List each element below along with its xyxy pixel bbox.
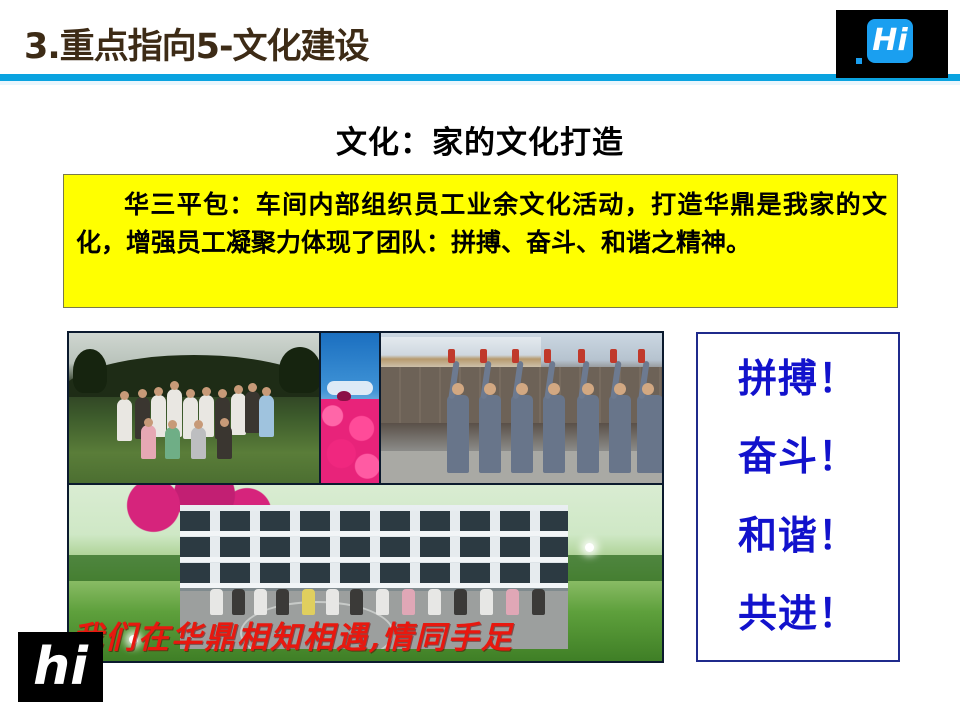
slogan-item-1: 拼搏！ (738, 360, 858, 399)
window-row-shape (180, 563, 568, 583)
slide-subtitle: 文化：家的文化打造 (0, 117, 960, 162)
slogan-item-4: 共进！ (738, 595, 858, 634)
header-accent-bar (0, 74, 960, 81)
photo-collage: 我们在华鼎相知相遇,情同手足 (67, 331, 664, 663)
brand-logo-bottom-left: hi (18, 632, 103, 702)
page-title: 3.重点指向5-文化建设 (24, 18, 369, 69)
brand-logo-top-right: Hi (836, 10, 948, 78)
collage-caption: 我们在华鼎相知相遇,情同手足 (72, 612, 632, 657)
slogan-panel: 拼搏！ 奋斗！ 和谐！ 共进！ (696, 332, 900, 662)
flower-cluster-shape (321, 399, 379, 483)
photo-pink-flowers-butterfly (321, 333, 379, 483)
tree-left-shape (73, 349, 107, 393)
brand-dot-icon (856, 58, 862, 64)
photo-team-group (69, 333, 319, 483)
slogan-item-2: 奋斗！ (738, 438, 858, 477)
slogan-item-3: 和谐！ (738, 517, 858, 556)
brand-mark-icon: Hi (867, 19, 913, 63)
people-group-shapes (117, 385, 277, 467)
header-accent-bar-soft (0, 81, 960, 85)
sparkle-icon (585, 543, 594, 552)
tree-right-shape (279, 347, 319, 393)
window-row-shape (180, 537, 568, 557)
brand-mark-bottom-icon: hi (18, 632, 103, 702)
butterfly-icon (337, 391, 351, 401)
floor-band-shape (180, 583, 568, 588)
slide-canvas: 3.重点指向5-文化建设 Hi 文化：家的文化打造 华三平包：车间内部组织员工业… (0, 0, 960, 720)
floor-band-shape (180, 557, 568, 562)
photo-workers-raising-bottles (381, 333, 662, 483)
highlight-note-box: 华三平包：车间内部组织员工业余文化活动，打造华鼎是我家的文化，增强员工凝聚力体现… (63, 174, 898, 308)
highlight-note-text: 华三平包：车间内部组织员工业余文化活动，打造华鼎是我家的文化，增强员工凝聚力体现… (76, 186, 887, 262)
floor-band-shape (180, 531, 568, 536)
window-row-shape (180, 511, 568, 531)
